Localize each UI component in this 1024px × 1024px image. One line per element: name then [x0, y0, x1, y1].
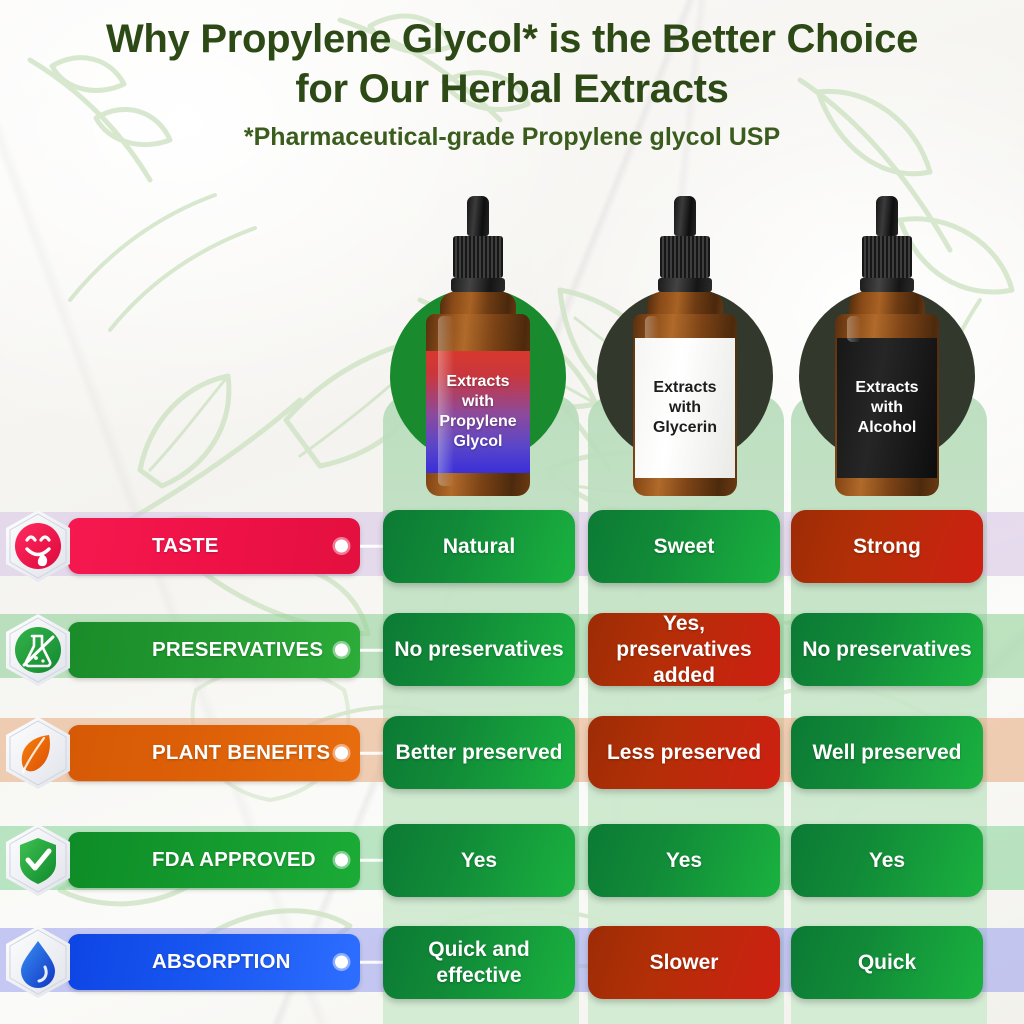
row-label-fda-approved[interactable]: FDA APPROVED	[0, 832, 400, 888]
dropper-cap-ribs	[453, 236, 503, 278]
pill-fda-approved[interactable]: FDA APPROVED	[68, 832, 360, 888]
icon-badge-preservatives	[0, 612, 76, 688]
pill-preservatives[interactable]: PRESERVATIVES	[68, 622, 360, 678]
bottle-label-glycerin: Extracts with Glycerin	[635, 338, 735, 478]
cell-fda-approved-propylene-glycol: Yes	[383, 824, 575, 897]
dropper-cap-ribs	[660, 236, 710, 278]
cell-taste-glycerin: Sweet	[588, 510, 780, 583]
pill-connector-dot	[335, 747, 348, 760]
dropper-teat-icon	[876, 196, 898, 236]
row-label-text: ABSORPTION	[152, 950, 326, 974]
cell-taste-propylene-glycol: Natural	[383, 510, 575, 583]
bottle-label-line: Extracts	[653, 378, 717, 398]
cell-plant-benefits-glycerin: Less preserved	[588, 716, 780, 789]
cell-absorption-propylene-glycol: Quick and effective	[383, 926, 575, 999]
dropper-cap-ribs	[862, 236, 912, 278]
bottle-glycerin: Extracts with Glycerin	[625, 196, 745, 496]
icon-badge-absorption	[0, 924, 76, 1000]
cell-absorption-glycerin: Slower	[588, 926, 780, 999]
dropper-teat-icon	[467, 196, 489, 236]
cell-absorption-alcohol: Quick	[791, 926, 983, 999]
bottle-label-alcohol: Extracts with Alcohol	[837, 338, 937, 478]
bottle-label-line: Glycerin	[653, 418, 717, 438]
row-label-text: PLANT BENEFITS	[152, 741, 326, 765]
pill-connector-dot	[335, 854, 348, 867]
pill-plant-benefits[interactable]: PLANT BENEFITS	[68, 725, 360, 781]
cell-taste-alcohol: Strong	[791, 510, 983, 583]
cell-preservatives-glycerin: Yes, preservatives added	[588, 613, 780, 686]
bottle-label-line: with	[653, 398, 717, 418]
row-label-text: PRESERVATIVES	[152, 638, 326, 662]
page-title-line-1: Why Propylene Glycol* is the Better Choi…	[0, 14, 1024, 64]
bottle-label-line: Glycol	[439, 432, 516, 452]
dropper-collar	[451, 278, 505, 292]
dropper-teat-icon	[674, 196, 696, 236]
dropper-collar	[658, 278, 712, 292]
bottle-label-line: Alcohol	[855, 418, 918, 438]
bottle-label-line: with	[855, 398, 918, 418]
bottle-propylene-glycol: Extracts with Propylene Glycol	[418, 196, 538, 496]
row-label-preservatives[interactable]: PRESERVATIVES	[0, 622, 400, 678]
bottle-label-line: with	[439, 392, 516, 412]
row-label-plant-benefits[interactable]: PLANT BENEFITS	[0, 725, 400, 781]
row-label-text: TASTE	[152, 534, 326, 558]
row-label-text: FDA APPROVED	[152, 848, 326, 872]
bottle-label-line: Extracts	[855, 378, 918, 398]
bottle-alcohol: Extracts with Alcohol	[827, 196, 947, 496]
cell-preservatives-alcohol: No preservatives	[791, 613, 983, 686]
bottle-label-propylene-glycol: Extracts with Propylene Glycol	[426, 351, 530, 473]
page-subtitle: *Pharmaceutical-grade Propylene glycol U…	[0, 122, 1024, 152]
header: Why Propylene Glycol* is the Better Choi…	[0, 14, 1024, 152]
cell-plant-benefits-propylene-glycol: Better preserved	[383, 716, 575, 789]
bottle-label-line: Extracts	[439, 372, 516, 392]
pill-connector-dot	[335, 540, 348, 553]
cell-fda-approved-alcohol: Yes	[791, 824, 983, 897]
cell-preservatives-propylene-glycol: No preservatives	[383, 613, 575, 686]
row-label-taste[interactable]: TASTE	[0, 518, 400, 574]
pill-connector-dot	[335, 956, 348, 969]
cell-fda-approved-glycerin: Yes	[588, 824, 780, 897]
bottle-label-line: Propylene	[439, 412, 516, 432]
icon-badge-taste	[0, 508, 76, 584]
infographic-canvas: Why Propylene Glycol* is the Better Choi…	[0, 0, 1024, 1024]
cell-plant-benefits-alcohol: Well preserved	[791, 716, 983, 789]
pill-taste[interactable]: TASTE	[68, 518, 360, 574]
page-title-line-2: for Our Herbal Extracts	[0, 64, 1024, 114]
pill-connector-dot	[335, 644, 348, 657]
dropper-collar	[860, 278, 914, 292]
pill-absorption[interactable]: ABSORPTION	[68, 934, 360, 990]
icon-badge-plant-benefits	[0, 715, 76, 791]
row-label-absorption[interactable]: ABSORPTION	[0, 934, 400, 990]
icon-badge-fda-approved	[0, 822, 76, 898]
